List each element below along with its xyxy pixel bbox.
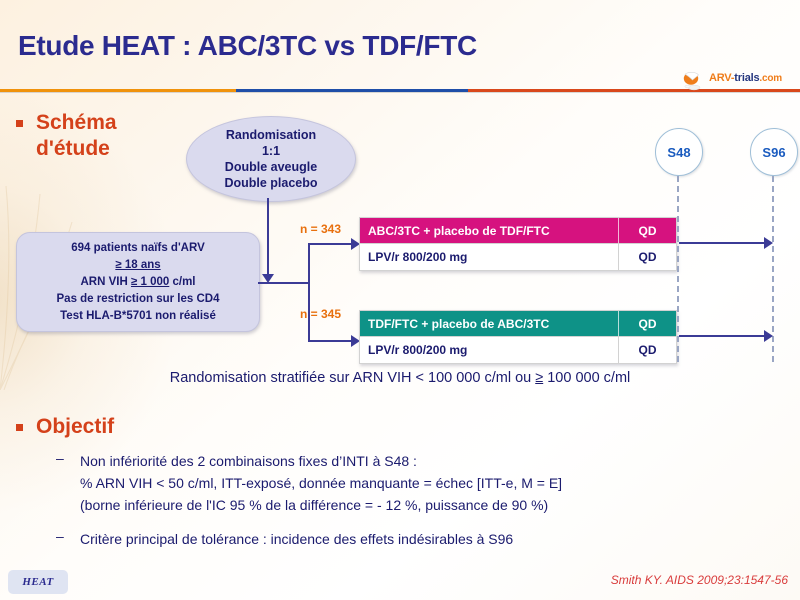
randomisation-line3: Double aveugle bbox=[225, 159, 317, 175]
visit-marker-s96: S96 bbox=[750, 128, 798, 176]
arm2-body-row: LPV/r 800/200 mg QD bbox=[360, 336, 676, 363]
randomisation-line4: Double placebo bbox=[224, 175, 317, 191]
arv-trials-logo[interactable]: ARV-trials.com bbox=[681, 71, 797, 91]
extension-line-arm1 bbox=[679, 242, 767, 244]
extension-arrowhead-arm2 bbox=[764, 330, 773, 342]
patient-criteria-box: 694 patients naïfs d'ARV ≥ 18 ans ARN VI… bbox=[16, 232, 260, 332]
visit-marker-s48: S48 bbox=[655, 128, 703, 176]
visit-label-s96: S96 bbox=[762, 145, 785, 160]
arm1-header-row: ABC/3TC + placebo de TDF/FTC QD bbox=[360, 218, 676, 243]
randomisation-ellipse: Randomisation 1:1 Double aveugle Double … bbox=[186, 116, 356, 202]
footer-citation: Smith KY. AIDS 2009;23:1547-56 bbox=[611, 573, 788, 587]
extension-arrowhead-arm1 bbox=[764, 237, 773, 249]
objectif-item1-line2: % ARN VIH < 50 c/ml, ITT-exposé, donnée … bbox=[80, 472, 790, 494]
objectif-item1-dash: – bbox=[56, 450, 64, 466]
bullet-square-objectif bbox=[16, 424, 23, 431]
patient-line2: ≥ 18 ans bbox=[115, 257, 160, 274]
objectif-item1: Non infériorité des 2 combinaisons fixes… bbox=[80, 450, 790, 516]
objectif-item2-dash: – bbox=[56, 528, 64, 544]
arm1-body-freq: QD bbox=[618, 244, 676, 270]
logo-text-trials: trials bbox=[734, 72, 759, 84]
objectif-item1-line3: (borne inférieure de l'IC 95 % de la dif… bbox=[80, 494, 790, 516]
patient-line3: ARN VIH ≥ 1 000 c/ml bbox=[81, 274, 196, 291]
slide-canvas: Etude HEAT : ABC/3TC vs TDF/FTC ARV-tria… bbox=[0, 0, 800, 600]
divider-underline bbox=[0, 92, 800, 93]
patient-line1: 694 patients naïfs d'ARV bbox=[71, 240, 205, 257]
objectif-item1-line1: Non infériorité des 2 combinaisons fixes… bbox=[80, 450, 790, 472]
pill-capsule-icon bbox=[681, 71, 709, 91]
footer-study-badge: HEAT bbox=[8, 570, 68, 594]
logo-text-com: .com bbox=[759, 73, 782, 84]
n-label-arm1: n = 343 bbox=[300, 222, 341, 236]
bullet-square-schema bbox=[16, 120, 23, 127]
arm1-header-drug: ABC/3TC + placebo de TDF/FTC bbox=[360, 218, 618, 243]
schema-heading-line2: d'étude bbox=[36, 136, 186, 162]
arm1-body-drug: LPV/r 800/200 mg bbox=[360, 244, 618, 270]
arm1-body-row: LPV/r 800/200 mg QD bbox=[360, 243, 676, 270]
logo-text-arv: ARV- bbox=[709, 72, 734, 84]
treatment-arm-1: ABC/3TC + placebo de TDF/FTC QD LPV/r 80… bbox=[359, 217, 677, 271]
arm2-header-freq: QD bbox=[618, 311, 676, 336]
patient-line5: Test HLA-B*5701 non réalisé bbox=[60, 308, 216, 325]
arm2-header-row: TDF/FTC + placebo de ABC/3TC QD bbox=[360, 311, 676, 336]
section-heading-schema: Schéma d'étude bbox=[36, 110, 186, 162]
connector-branch-arm1 bbox=[308, 243, 355, 245]
section-heading-objectif: Objectif bbox=[36, 414, 114, 440]
arm1-header-freq: QD bbox=[618, 218, 676, 243]
arm2-body-drug: LPV/r 800/200 mg bbox=[360, 337, 618, 363]
schema-heading-line1: Schéma bbox=[36, 110, 186, 136]
connector-splitter-vertical bbox=[308, 243, 310, 342]
n-label-arm2: n = 345 bbox=[300, 307, 341, 321]
objectif-item2: Critère principal de tolérance : inciden… bbox=[80, 528, 790, 550]
connector-ellipse-vertical bbox=[267, 198, 269, 276]
arm2-header-drug: TDF/FTC + placebo de ABC/3TC bbox=[360, 311, 618, 336]
patient-line4: Pas de restriction sur les CD4 bbox=[57, 291, 220, 308]
stratification-text: Randomisation stratifiée sur ARN VIH < 1… bbox=[0, 370, 800, 386]
visit-label-s48: S48 bbox=[667, 145, 690, 160]
randomisation-line2: 1:1 bbox=[262, 143, 280, 159]
arm2-body-freq: QD bbox=[618, 337, 676, 363]
connector-spine-horizontal bbox=[258, 282, 310, 284]
logo-wordmark: ARV-trials.com bbox=[709, 72, 782, 84]
connector-branch-arm2 bbox=[308, 340, 355, 342]
randomisation-line1: Randomisation bbox=[226, 127, 316, 143]
treatment-arm-2: TDF/FTC + placebo de ABC/3TC QD LPV/r 80… bbox=[359, 310, 677, 364]
page-title: Etude HEAT : ABC/3TC vs TDF/FTC bbox=[18, 30, 477, 62]
header-divider bbox=[0, 89, 800, 92]
extension-line-arm2 bbox=[679, 335, 767, 337]
